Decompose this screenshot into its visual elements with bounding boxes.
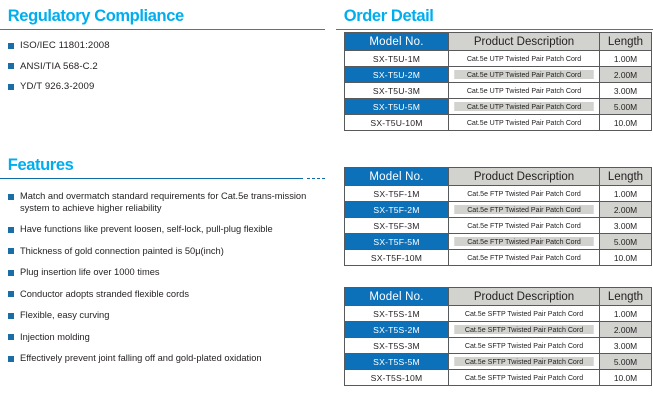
cell-product-description: Cat.5e SFTP Twisted Pair Patch Cord xyxy=(449,370,600,386)
features-section: Features Match and overmatch standard re… xyxy=(0,155,325,375)
table-row: SX-T5F-1MCat.5e FTP Twisted Pair Patch C… xyxy=(345,186,652,202)
cell-model-no: SX-T5S-5M xyxy=(345,354,449,370)
cell-product-description: Cat.5e SFTP Twisted Pair Patch Cord xyxy=(449,354,600,370)
square-bullet-icon xyxy=(8,313,14,319)
right-column: Order Detail Model No.Product Descriptio… xyxy=(336,0,653,401)
order-detail-title: Order Detail xyxy=(336,6,643,26)
list-item-label: Match and overmatch standard requirement… xyxy=(20,191,306,213)
cell-product-description: Cat.5e FTP Twisted Pair Patch Cord xyxy=(449,186,600,202)
cell-length: 1.00M xyxy=(600,51,652,67)
cell-model-no: SX-T5S-2M xyxy=(345,322,449,338)
cell-product-description: Cat.5e UTP Twisted Pair Patch Cord xyxy=(449,51,600,67)
table-header-row: Model No.Product DescriptionLength xyxy=(345,288,652,306)
list-item: ANSI/TIA 568-C.2 xyxy=(0,61,325,73)
cell-product-description-label: Cat.5e SFTP Twisted Pair Patch Cord xyxy=(454,309,594,318)
table-row: SX-T5U-2MCat.5e UTP Twisted Pair Patch C… xyxy=(345,67,652,83)
table-row: SX-T5F-5MCat.5e FTP Twisted Pair Patch C… xyxy=(345,234,652,250)
regulatory-compliance-rule xyxy=(0,29,325,30)
list-item: Flexible, easy curving xyxy=(0,310,325,322)
square-bullet-icon xyxy=(8,291,14,297)
cell-length: 3.00M xyxy=(600,218,652,234)
order-detail-section: Order Detail xyxy=(336,6,653,30)
cell-product-description: Cat.5e UTP Twisted Pair Patch Cord xyxy=(449,67,600,83)
cell-model-no: SX-T5F-3M xyxy=(345,218,449,234)
column-header-length: Length xyxy=(600,168,652,186)
table-row: SX-T5S-1MCat.5e SFTP Twisted Pair Patch … xyxy=(345,306,652,322)
list-item: Plug insertion life over 1000 times xyxy=(0,267,325,279)
cell-length: 1.00M xyxy=(600,186,652,202)
rule-line xyxy=(0,29,325,30)
order-table-sftp: Model No.Product DescriptionLengthSX-T5S… xyxy=(344,287,652,386)
cell-product-description: Cat.5e FTP Twisted Pair Patch Cord xyxy=(449,218,600,234)
cell-product-description: Cat.5e UTP Twisted Pair Patch Cord xyxy=(449,83,600,99)
features-rule xyxy=(0,178,325,179)
column-header-model: Model No. xyxy=(345,288,449,306)
cell-model-no: SX-T5U-2M xyxy=(345,67,449,83)
table-header-row: Model No.Product DescriptionLength xyxy=(345,33,652,51)
list-item: ISO/IEC 11801:2008 xyxy=(0,40,325,52)
square-bullet-icon xyxy=(8,194,14,200)
cell-model-no: SX-T5U-1M xyxy=(345,51,449,67)
features-title: Features xyxy=(0,155,315,175)
cell-length: 10.0M xyxy=(600,250,652,266)
cell-product-description-label: Cat.5e UTP Twisted Pair Patch Cord xyxy=(454,102,594,111)
list-item-label: YD/T 926.3-2009 xyxy=(20,81,94,92)
square-bullet-icon xyxy=(8,334,14,340)
list-item-label: Flexible, easy curving xyxy=(20,310,109,320)
list-item: Thickness of gold connection painted is … xyxy=(0,246,325,258)
cell-product-description-label: Cat.5e SFTP Twisted Pair Patch Cord xyxy=(454,357,594,366)
list-item-label: ISO/IEC 11801:2008 xyxy=(20,40,110,51)
list-item-label: Conductor adopts stranded flexible cords xyxy=(20,289,189,299)
cell-product-description-label: Cat.5e UTP Twisted Pair Patch Cord xyxy=(454,118,594,127)
cell-product-description: Cat.5e FTP Twisted Pair Patch Cord xyxy=(449,250,600,266)
list-item: YD/T 926.3-2009 xyxy=(0,81,325,93)
table-row: SX-T5U-1MCat.5e UTP Twisted Pair Patch C… xyxy=(345,51,652,67)
regulatory-compliance-section: Regulatory Compliance ISO/IEC 11801:2008… xyxy=(0,6,325,102)
list-item-label: Injection molding xyxy=(20,332,90,342)
cell-product-description-label: Cat.5e SFTP Twisted Pair Patch Cord xyxy=(454,373,594,382)
datasheet-page: Regulatory Compliance ISO/IEC 11801:2008… xyxy=(0,0,653,401)
cell-product-description-label: Cat.5e FTP Twisted Pair Patch Cord xyxy=(454,253,594,262)
table-row: SX-T5U-3MCat.5e UTP Twisted Pair Patch C… xyxy=(345,83,652,99)
column-header-description: Product Description xyxy=(449,288,600,306)
cell-model-no: SX-T5F-5M xyxy=(345,234,449,250)
table-row: SX-T5S-2MCat.5e SFTP Twisted Pair Patch … xyxy=(345,322,652,338)
table-row: SX-T5F-10MCat.5e FTP Twisted Pair Patch … xyxy=(345,250,652,266)
list-item-label: Thickness of gold connection painted is … xyxy=(20,246,224,256)
order-table-ftp: Model No.Product DescriptionLengthSX-T5F… xyxy=(344,167,652,266)
cell-product-description: Cat.5e SFTP Twisted Pair Patch Cord xyxy=(449,306,600,322)
cell-model-no: SX-T5U-10M xyxy=(345,115,449,131)
order-detail-rule xyxy=(336,29,653,30)
cell-model-no: SX-T5S-1M xyxy=(345,306,449,322)
square-bullet-icon xyxy=(8,227,14,233)
list-item: Effectively prevent joint falling off an… xyxy=(0,353,325,365)
cell-length: 5.00M xyxy=(600,354,652,370)
cell-product-description-label: Cat.5e UTP Twisted Pair Patch Cord xyxy=(454,54,594,63)
cell-length: 10.0M xyxy=(600,115,652,131)
table-row: SX-T5F-2MCat.5e FTP Twisted Pair Patch C… xyxy=(345,202,652,218)
cell-model-no: SX-T5S-10M xyxy=(345,370,449,386)
regulatory-compliance-title: Regulatory Compliance xyxy=(0,6,315,26)
list-item: Have functions like prevent loosen, self… xyxy=(0,224,325,236)
cell-length: 2.00M xyxy=(600,202,652,218)
features-list: Match and overmatch standard requirement… xyxy=(0,191,325,365)
square-bullet-icon xyxy=(8,43,14,49)
cell-length: 2.00M xyxy=(600,67,652,83)
column-header-model: Model No. xyxy=(345,33,449,51)
table-row: SX-T5U-5MCat.5e UTP Twisted Pair Patch C… xyxy=(345,99,652,115)
table-row: SX-T5S-5MCat.5e SFTP Twisted Pair Patch … xyxy=(345,354,652,370)
cell-product-description: Cat.5e SFTP Twisted Pair Patch Cord xyxy=(449,322,600,338)
table-row: SX-T5S-10MCat.5e SFTP Twisted Pair Patch… xyxy=(345,370,652,386)
table-row: SX-T5U-10MCat.5e UTP Twisted Pair Patch … xyxy=(345,115,652,131)
cell-length: 5.00M xyxy=(600,234,652,250)
rule-line xyxy=(0,178,303,179)
column-header-length: Length xyxy=(600,288,652,306)
cell-product-description: Cat.5e SFTP Twisted Pair Patch Cord xyxy=(449,338,600,354)
cell-length: 2.00M xyxy=(600,322,652,338)
cell-length: 5.00M xyxy=(600,99,652,115)
list-item-label: Plug insertion life over 1000 times xyxy=(20,267,160,277)
cell-product-description-label: Cat.5e UTP Twisted Pair Patch Cord xyxy=(454,86,594,95)
list-item: Match and overmatch standard requirement… xyxy=(0,191,325,214)
list-item: Conductor adopts stranded flexible cords xyxy=(0,289,325,301)
cell-model-no: SX-T5F-10M xyxy=(345,250,449,266)
square-bullet-icon xyxy=(8,248,14,254)
table-row: SX-T5S-3MCat.5e SFTP Twisted Pair Patch … xyxy=(345,338,652,354)
cell-product-description-label: Cat.5e FTP Twisted Pair Patch Cord xyxy=(454,189,594,198)
cell-product-description: Cat.5e UTP Twisted Pair Patch Cord xyxy=(449,99,600,115)
square-bullet-icon xyxy=(8,270,14,276)
square-bullet-icon xyxy=(8,84,14,90)
cell-model-no: SX-T5U-3M xyxy=(345,83,449,99)
cell-product-description: Cat.5e FTP Twisted Pair Patch Cord xyxy=(449,234,600,250)
cell-length: 3.00M xyxy=(600,83,652,99)
cell-model-no: SX-T5F-2M xyxy=(345,202,449,218)
cell-product-description: Cat.5e UTP Twisted Pair Patch Cord xyxy=(449,115,600,131)
cell-length: 1.00M xyxy=(600,306,652,322)
cell-model-no: SX-T5S-3M xyxy=(345,338,449,354)
cell-length: 3.00M xyxy=(600,338,652,354)
left-column: Regulatory Compliance ISO/IEC 11801:2008… xyxy=(0,0,325,401)
cell-product-description-label: Cat.5e FTP Twisted Pair Patch Cord xyxy=(454,205,594,214)
list-item-label: ANSI/TIA 568-C.2 xyxy=(20,61,98,72)
column-header-model: Model No. xyxy=(345,168,449,186)
square-bullet-icon xyxy=(8,356,14,362)
list-item-label: Have functions like prevent loosen, self… xyxy=(20,224,273,234)
table-row: SX-T5F-3MCat.5e FTP Twisted Pair Patch C… xyxy=(345,218,652,234)
column-header-length: Length xyxy=(600,33,652,51)
cell-product-description-label: Cat.5e SFTP Twisted Pair Patch Cord xyxy=(454,341,594,350)
cell-product-description-label: Cat.5e FTP Twisted Pair Patch Cord xyxy=(454,237,594,246)
list-item-label: Effectively prevent joint falling off an… xyxy=(20,353,262,363)
cell-length: 10.0M xyxy=(600,370,652,386)
cell-product-description-label: Cat.5e FTP Twisted Pair Patch Cord xyxy=(454,221,594,230)
column-header-description: Product Description xyxy=(449,168,600,186)
rule-dash-tail xyxy=(307,178,325,179)
cell-product-description-label: Cat.5e UTP Twisted Pair Patch Cord xyxy=(454,70,594,79)
cell-product-description: Cat.5e FTP Twisted Pair Patch Cord xyxy=(449,202,600,218)
column-header-description: Product Description xyxy=(449,33,600,51)
regulatory-compliance-list: ISO/IEC 11801:2008ANSI/TIA 568-C.2YD/T 9… xyxy=(0,40,325,93)
cell-model-no: SX-T5U-5M xyxy=(345,99,449,115)
cell-model-no: SX-T5F-1M xyxy=(345,186,449,202)
rule-line xyxy=(336,29,653,30)
square-bullet-icon xyxy=(8,63,14,69)
table-header-row: Model No.Product DescriptionLength xyxy=(345,168,652,186)
list-item: Injection molding xyxy=(0,332,325,344)
order-table-utp: Model No.Product DescriptionLengthSX-T5U… xyxy=(344,32,652,131)
cell-product-description-label: Cat.5e SFTP Twisted Pair Patch Cord xyxy=(454,325,594,334)
